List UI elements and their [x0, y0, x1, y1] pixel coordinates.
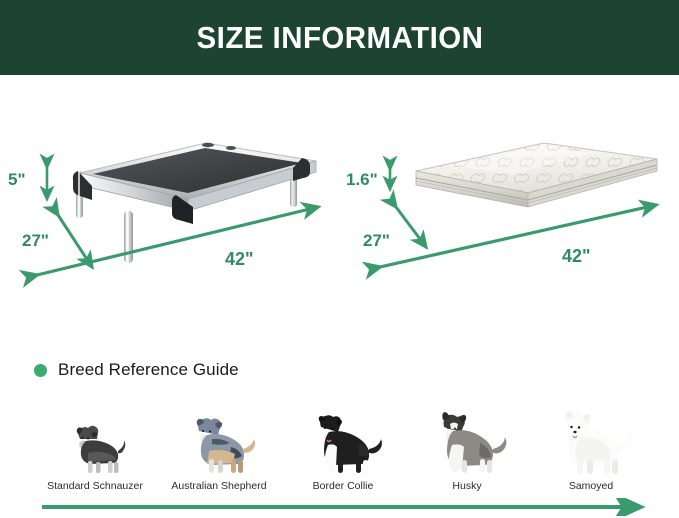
right-arrow-icon	[36, 498, 656, 516]
breed-label: Standard Schnauzer	[47, 480, 143, 492]
breed-item: Border Collie	[284, 392, 402, 492]
breed-item: Samoyed	[532, 392, 650, 492]
dog-samoyed-icon	[546, 403, 636, 475]
breed-item: Australian Shepherd	[160, 392, 278, 492]
dog-border-collie-icon	[301, 403, 385, 475]
product-diagram-dog-bed: 5" 27" 42"	[0, 75, 339, 340]
dimension-diagrams: 5" 27" 42"	[0, 75, 679, 340]
size-information-page: SIZE INFORMATION	[0, 0, 679, 518]
dog-husky-icon	[424, 403, 510, 475]
breed-label: Border Collie	[313, 480, 374, 492]
dimension-label-width: 42"	[225, 250, 254, 268]
dimension-label-depth: 27"	[363, 232, 390, 249]
dog-bed-icon	[58, 137, 320, 267]
breed-reference-guide: Breed Reference Guide	[0, 352, 679, 518]
breed-item: Husky	[408, 392, 526, 492]
breed-label: Australian Shepherd	[171, 480, 266, 492]
dimension-label-width: 42"	[562, 247, 591, 265]
page-header: SIZE INFORMATION	[0, 0, 679, 75]
page-title: SIZE INFORMATION	[196, 22, 483, 53]
dimension-label-depth: 27"	[22, 232, 49, 249]
mattress-icon	[392, 137, 662, 247]
breed-label: Husky	[452, 480, 481, 492]
breed-list: Standard Schnauzer	[36, 392, 650, 492]
breed-guide-heading-text: Breed Reference Guide	[58, 360, 239, 380]
breed-item: Standard Schnauzer	[36, 392, 154, 492]
breed-guide-heading: Breed Reference Guide	[34, 360, 239, 380]
breed-label: Samoyed	[569, 480, 613, 492]
dog-aussie-shepherd-icon	[179, 403, 259, 475]
green-dot-icon	[34, 364, 47, 377]
product-diagram-mattress: 1.6" 27" 42"	[340, 75, 679, 340]
dimension-label-height: 5"	[8, 171, 26, 188]
dimension-label-height: 1.6"	[346, 171, 378, 188]
dog-schnauzer-icon	[58, 403, 132, 475]
